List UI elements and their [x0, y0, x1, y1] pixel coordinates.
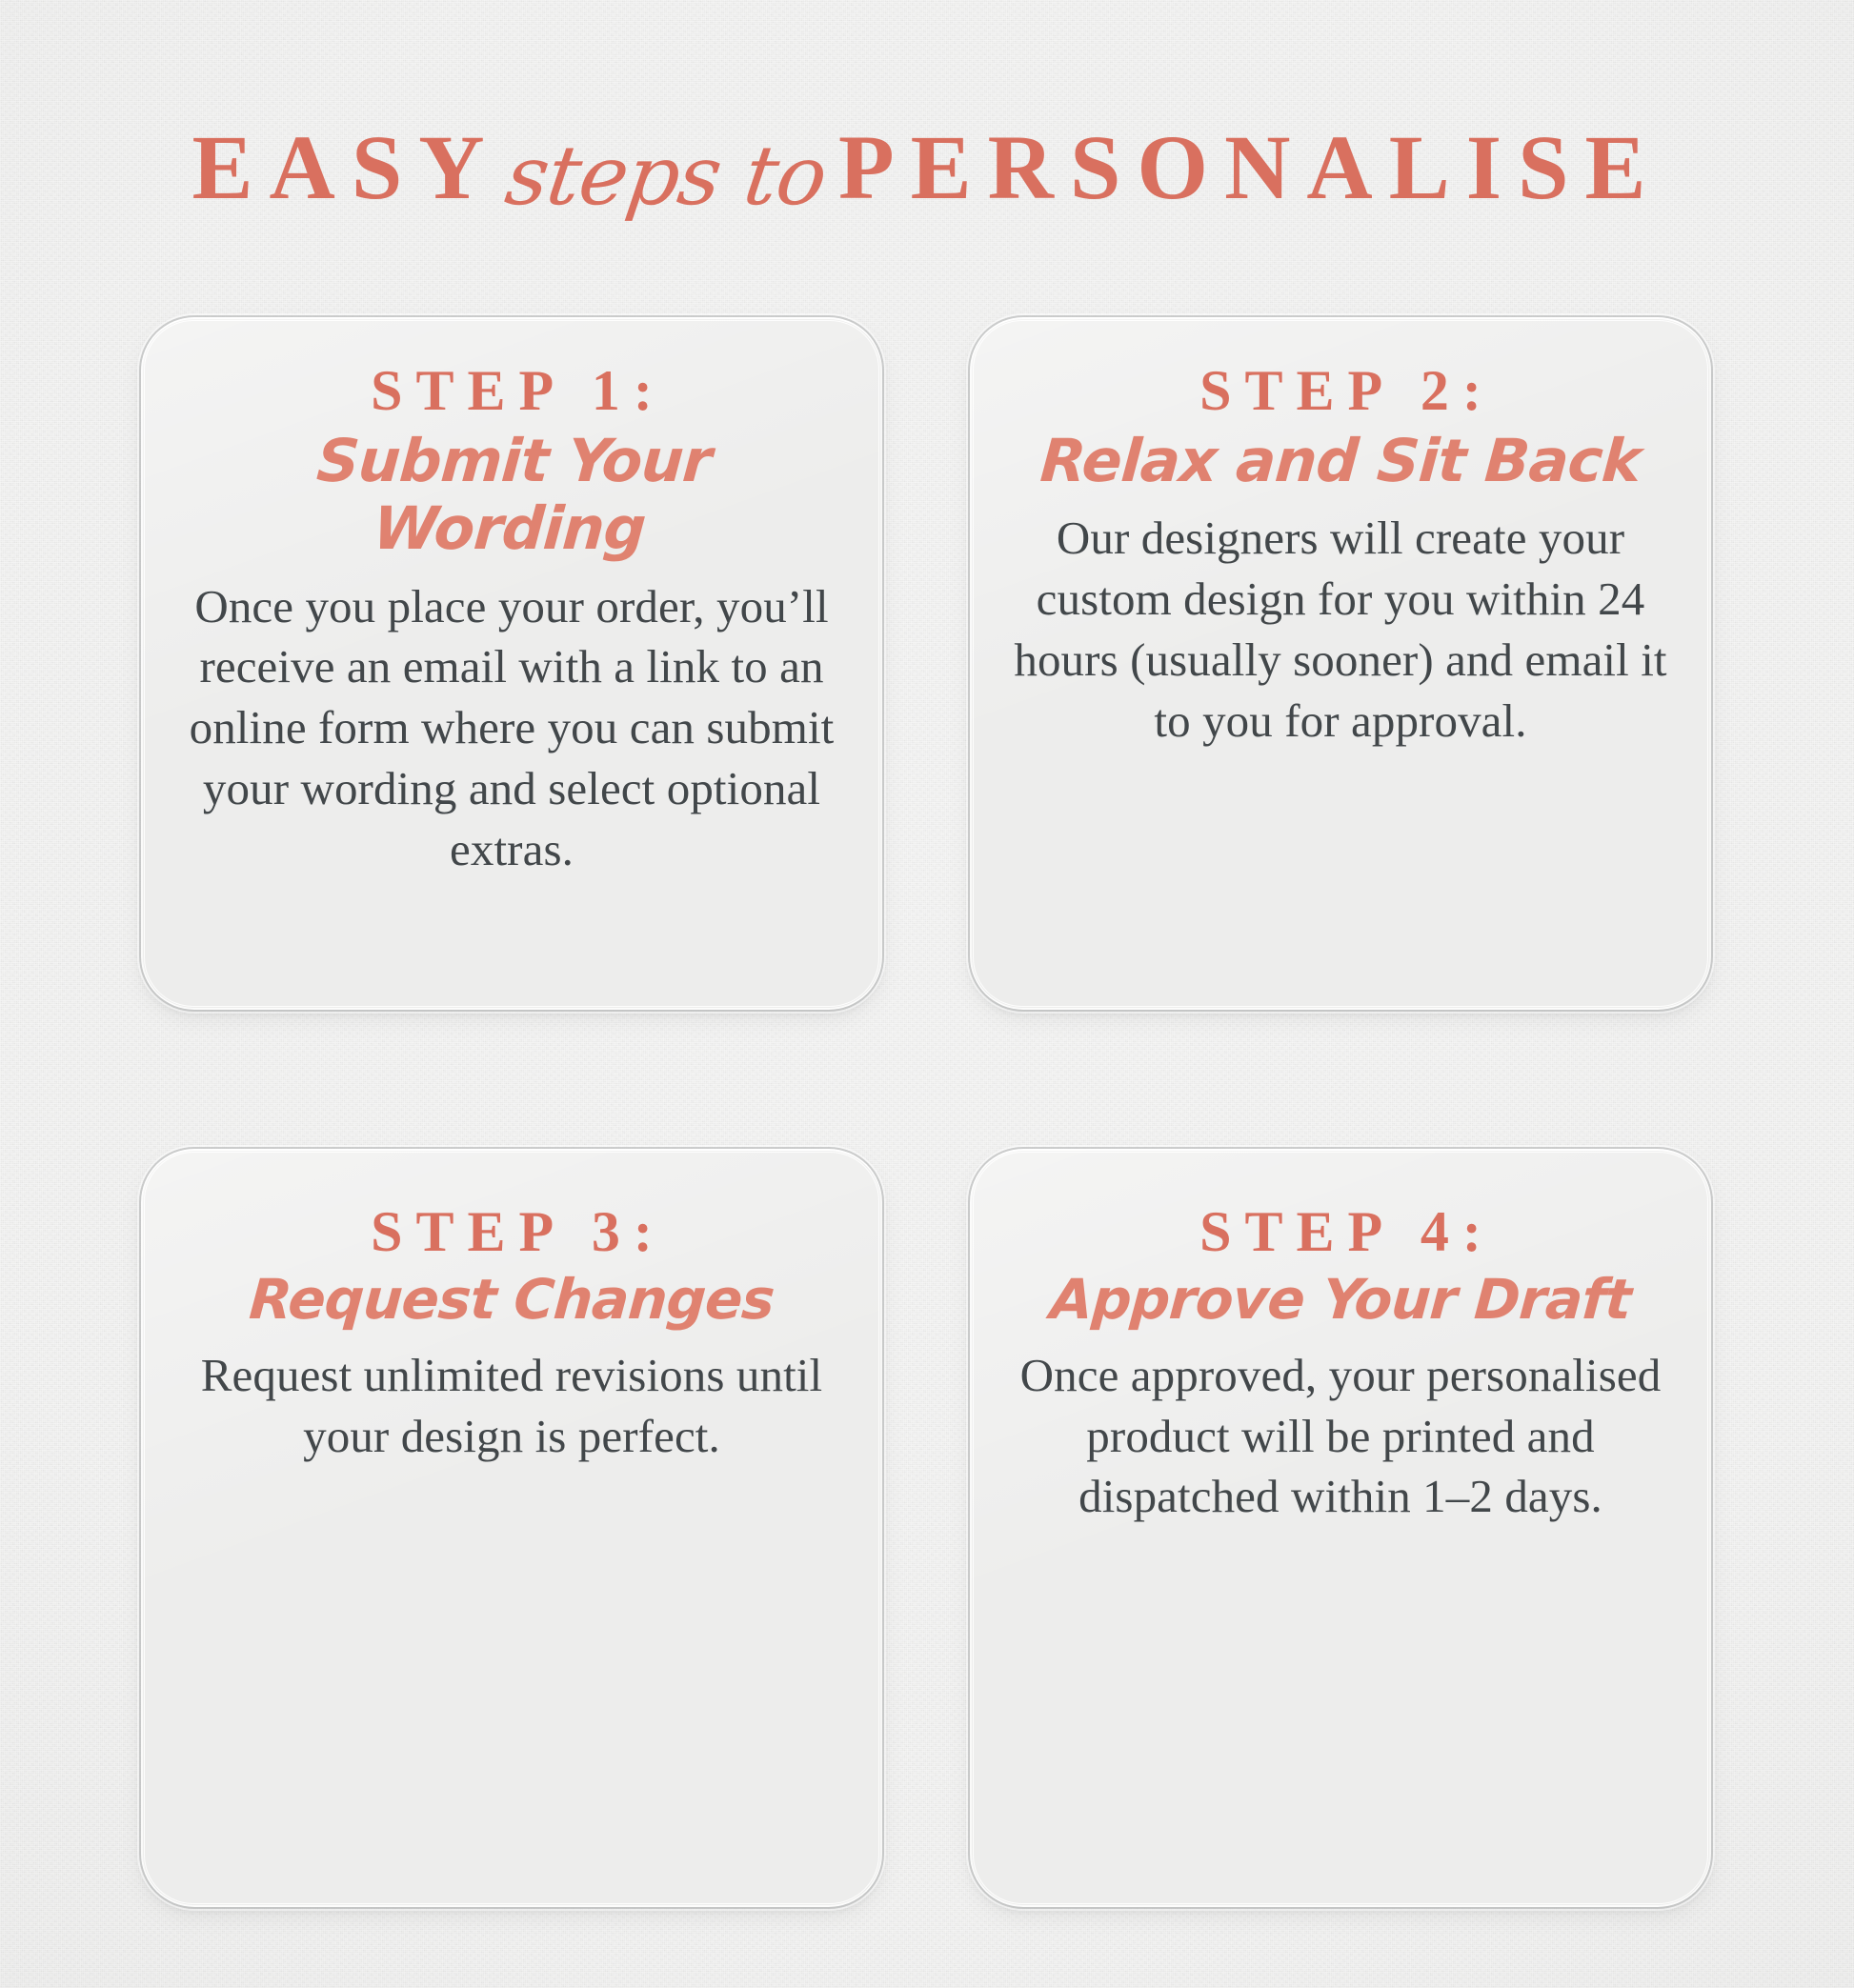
infographic-root: EASYsteps toPERSONALISE STEP 1: Submit Y…	[0, 0, 1854, 1988]
step-2-label: STEP 2:	[1014, 359, 1667, 423]
step-3-body: Request unlimited revisions until your d…	[185, 1345, 838, 1466]
page-title: EASYsteps toPERSONALISE	[0, 122, 1854, 213]
step-2-body: Our designers will create your custom de…	[1014, 508, 1667, 751]
step-card-2-content: STEP 2: Relax and Sit Back Our designers…	[970, 317, 1711, 751]
step-card-2[interactable]: STEP 2: Relax and Sit Back Our designers…	[970, 317, 1711, 1010]
step-card-3-content: STEP 3: Request Changes Request unlimite…	[141, 1149, 882, 1466]
step-3-title: Request Changes	[183, 1268, 841, 1332]
step-card-4-content: STEP 4: Approve Your Draft Once approved…	[970, 1149, 1711, 1527]
title-script-steps-to: steps to	[501, 135, 832, 217]
step-card-1[interactable]: STEP 1: Submit Your Wording Once you pla…	[141, 317, 882, 1010]
title-word-personalise: PERSONALISE	[838, 116, 1663, 218]
title-word-easy: EASY	[191, 116, 500, 218]
step-3-label: STEP 3:	[185, 1200, 838, 1264]
step-1-label: STEP 1:	[185, 359, 838, 423]
step-4-title: Approve Your Draft	[1012, 1268, 1670, 1332]
step-4-label: STEP 4:	[1014, 1200, 1667, 1264]
step-1-title: Submit Your Wording	[180, 427, 843, 563]
step-card-1-content: STEP 1: Submit Your Wording Once you pla…	[141, 317, 882, 879]
step-card-4[interactable]: STEP 4: Approve Your Draft Once approved…	[970, 1149, 1711, 1907]
step-1-body: Once you place your order, you’ll receiv…	[185, 576, 838, 879]
step-4-body: Once approved, your personalised product…	[1014, 1345, 1667, 1527]
step-card-3[interactable]: STEP 3: Request Changes Request unlimite…	[141, 1149, 882, 1907]
step-2-title: Relax and Sit Back	[1012, 427, 1670, 494]
